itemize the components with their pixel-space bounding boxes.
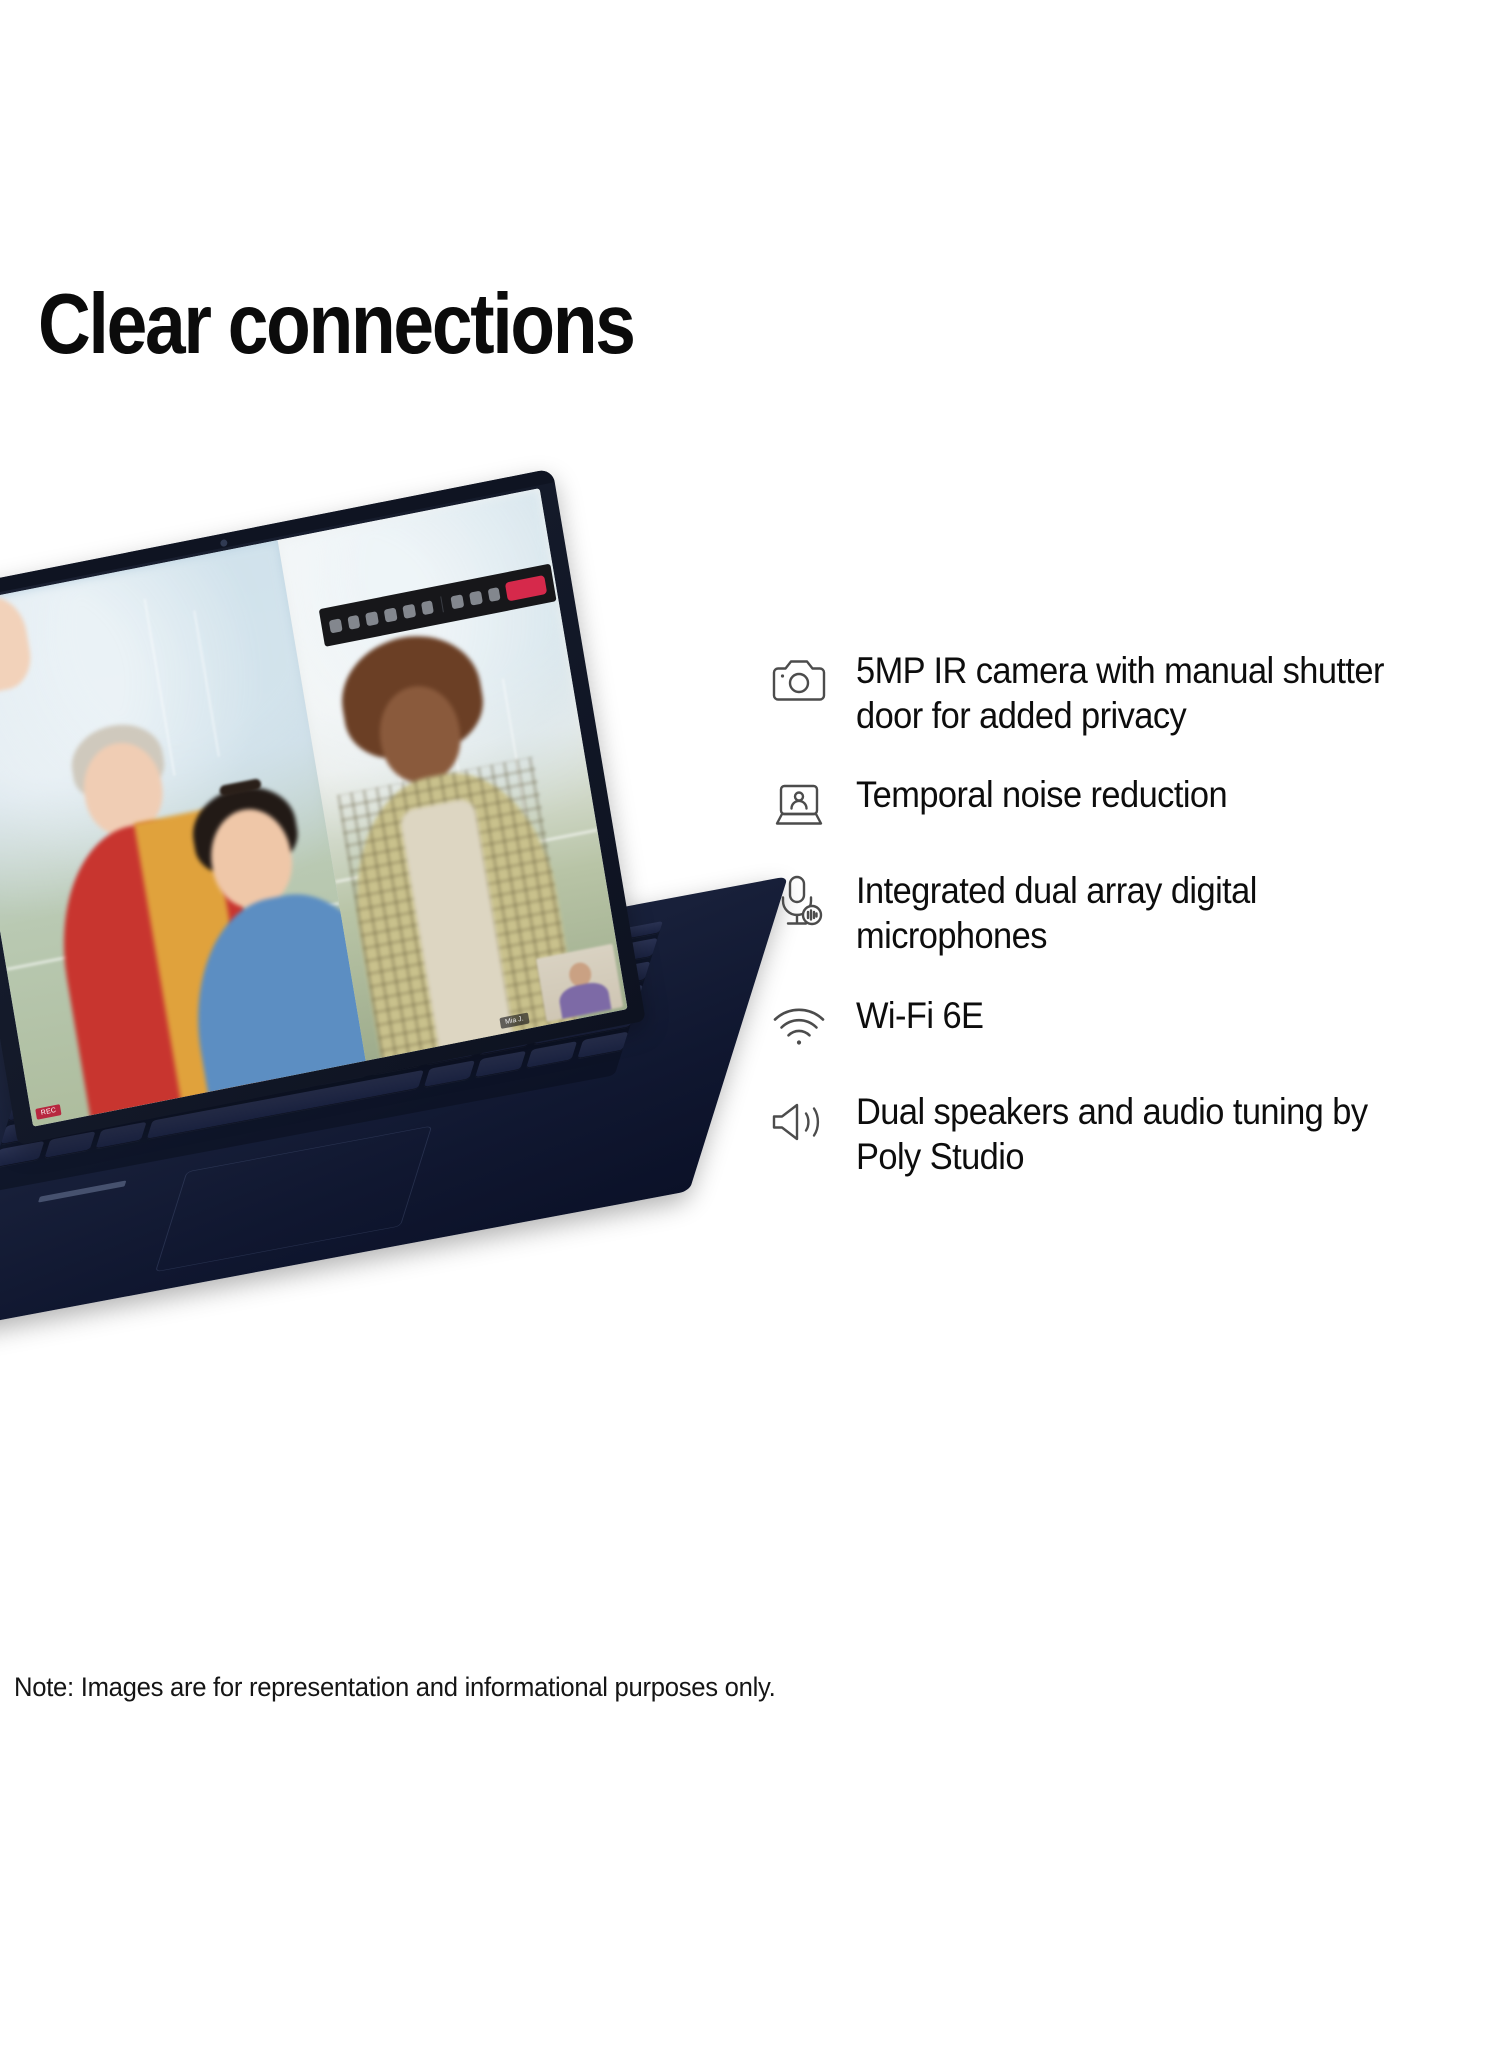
more-options-icon[interactable]: [420, 600, 434, 615]
speaker-icon: [770, 1093, 828, 1151]
laptop-brand-mark: [38, 1180, 126, 1202]
feature-item: Dual speakers and audio tuning by Poly S…: [770, 1089, 1480, 1179]
wifi-icon: [770, 997, 828, 1055]
feature-item: Integrated dual array digital microphone…: [770, 868, 1480, 958]
disclaimer-note: Note: Images are for representation and …: [14, 1672, 775, 1703]
laptop-screen: REC: [0, 488, 628, 1127]
toolbar-divider: [441, 596, 445, 612]
chat-icon[interactable]: [365, 611, 379, 626]
camera-toggle-icon[interactable]: [469, 590, 483, 605]
people-icon[interactable]: [347, 614, 361, 629]
grid-view-icon[interactable]: [329, 618, 343, 633]
feature-label: Temporal noise reduction: [856, 772, 1227, 817]
feature-label: Wi-Fi 6E: [856, 993, 983, 1038]
feature-label: Dual speakers and audio tuning by Poly S…: [856, 1089, 1436, 1179]
camera-icon: [770, 652, 828, 710]
page-title: Clear connections: [38, 284, 634, 366]
feature-item: Temporal noise reduction: [770, 772, 1480, 834]
product-image: REC: [0, 575, 860, 1635]
feature-label: Integrated dual array digital microphone…: [856, 868, 1436, 958]
feature-item: 5MP IR camera with manual shutter door f…: [770, 648, 1480, 738]
feature-item: Wi-Fi 6E: [770, 993, 1480, 1055]
raise-hand-icon[interactable]: [384, 607, 398, 622]
share-screen-icon[interactable]: [487, 586, 501, 601]
microphone-toggle-icon[interactable]: [451, 594, 465, 609]
microphone-icon: [770, 872, 828, 930]
product-feature-page: Clear connections: [0, 0, 1500, 2045]
laptop-person-icon: [770, 776, 828, 834]
leave-call-button[interactable]: [505, 574, 547, 600]
feature-list: 5MP IR camera with manual shutter door f…: [770, 648, 1480, 1179]
reactions-icon[interactable]: [402, 603, 416, 618]
feature-label: 5MP IR camera with manual shutter door f…: [856, 648, 1436, 738]
